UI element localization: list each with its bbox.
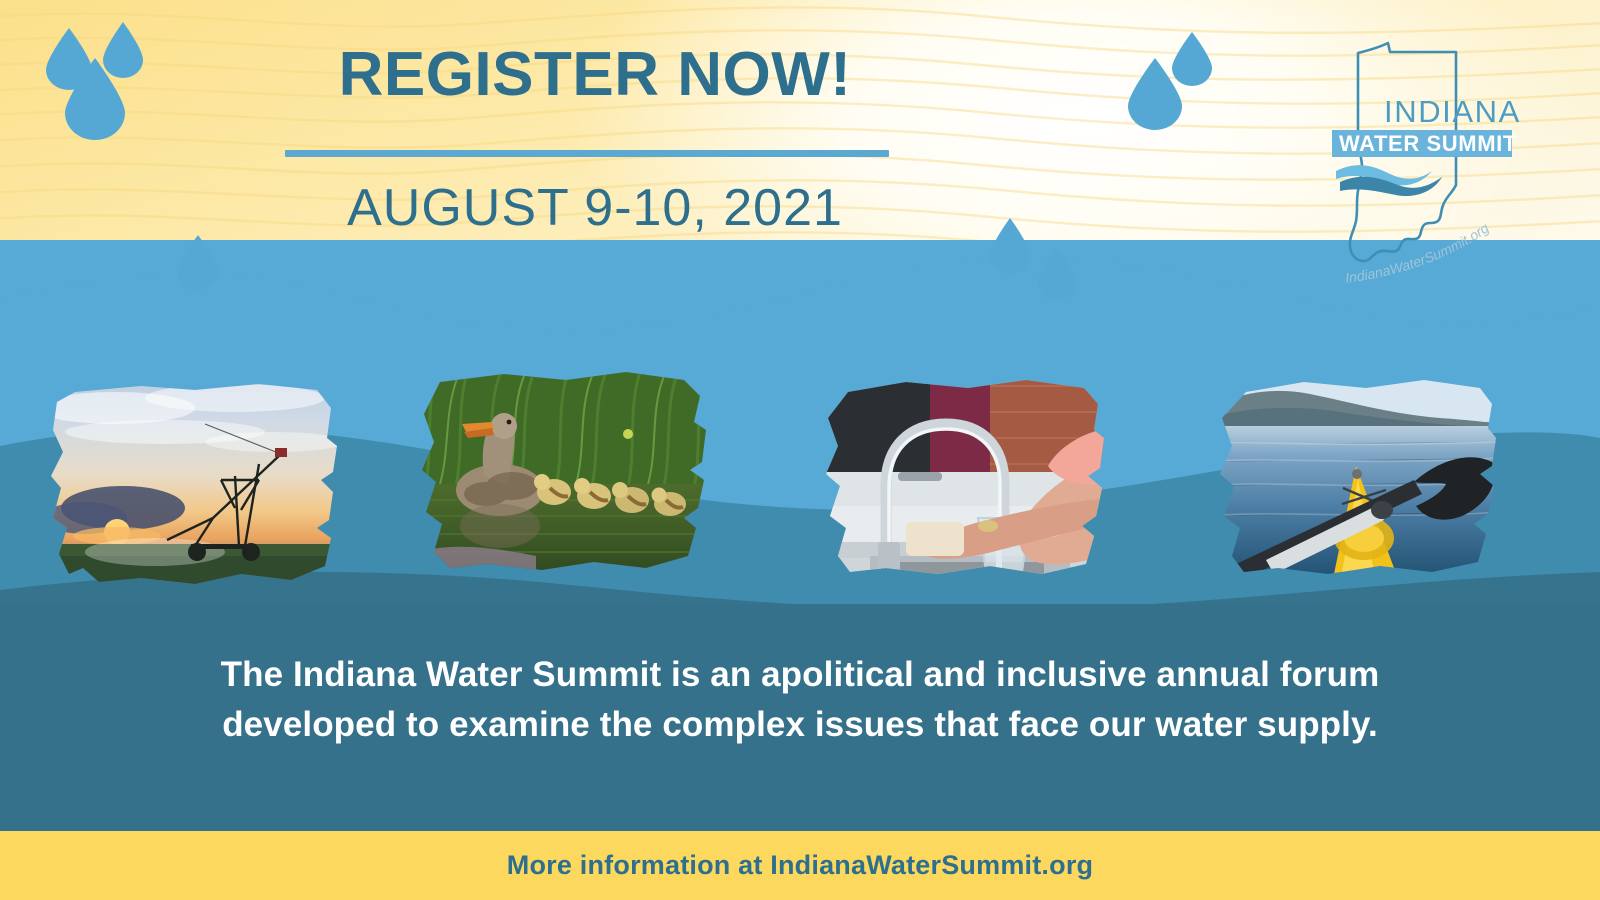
photo-kayak-lake — [1200, 370, 1500, 584]
description-line-2: developed to examine the complex issues … — [110, 700, 1490, 750]
water-drop-6 — [1172, 32, 1212, 86]
photo-duck-ducklings — [416, 366, 712, 580]
photo-irrigation-sunset — [45, 368, 345, 600]
water-drop-4 — [178, 235, 218, 290]
water-drop-8 — [1038, 248, 1076, 300]
indiana-water-summit-logo[interactable]: INDIANA WATER SUMMIT IndianaWaterSummit.… — [1330, 25, 1580, 290]
promotional-banner: REGISTER NOW! AUGUST 9-10, 2021 INDIANA … — [0, 0, 1600, 900]
event-date: AUGUST 9-10, 2021 — [285, 180, 905, 237]
description-text: The Indiana Water Summit is an apolitica… — [110, 650, 1490, 749]
water-drop-3 — [65, 58, 125, 140]
title-divider-rule — [285, 150, 889, 157]
footer-link[interactable]: More information at IndianaWaterSummit.o… — [0, 831, 1600, 900]
logo-top-word: INDIANA — [1384, 94, 1521, 129]
description-line-1: The Indiana Water Summit is an apolitica… — [110, 650, 1490, 700]
wave-ribbon — [1336, 165, 1442, 196]
logo-url: IndianaWaterSummit.org — [1344, 219, 1491, 285]
logo-bar-word: WATER SUMMIT — [1339, 131, 1517, 156]
photo-tap-water-glass — [810, 366, 1110, 586]
page-title: REGISTER NOW! — [285, 44, 905, 106]
water-drop-7 — [990, 218, 1030, 274]
